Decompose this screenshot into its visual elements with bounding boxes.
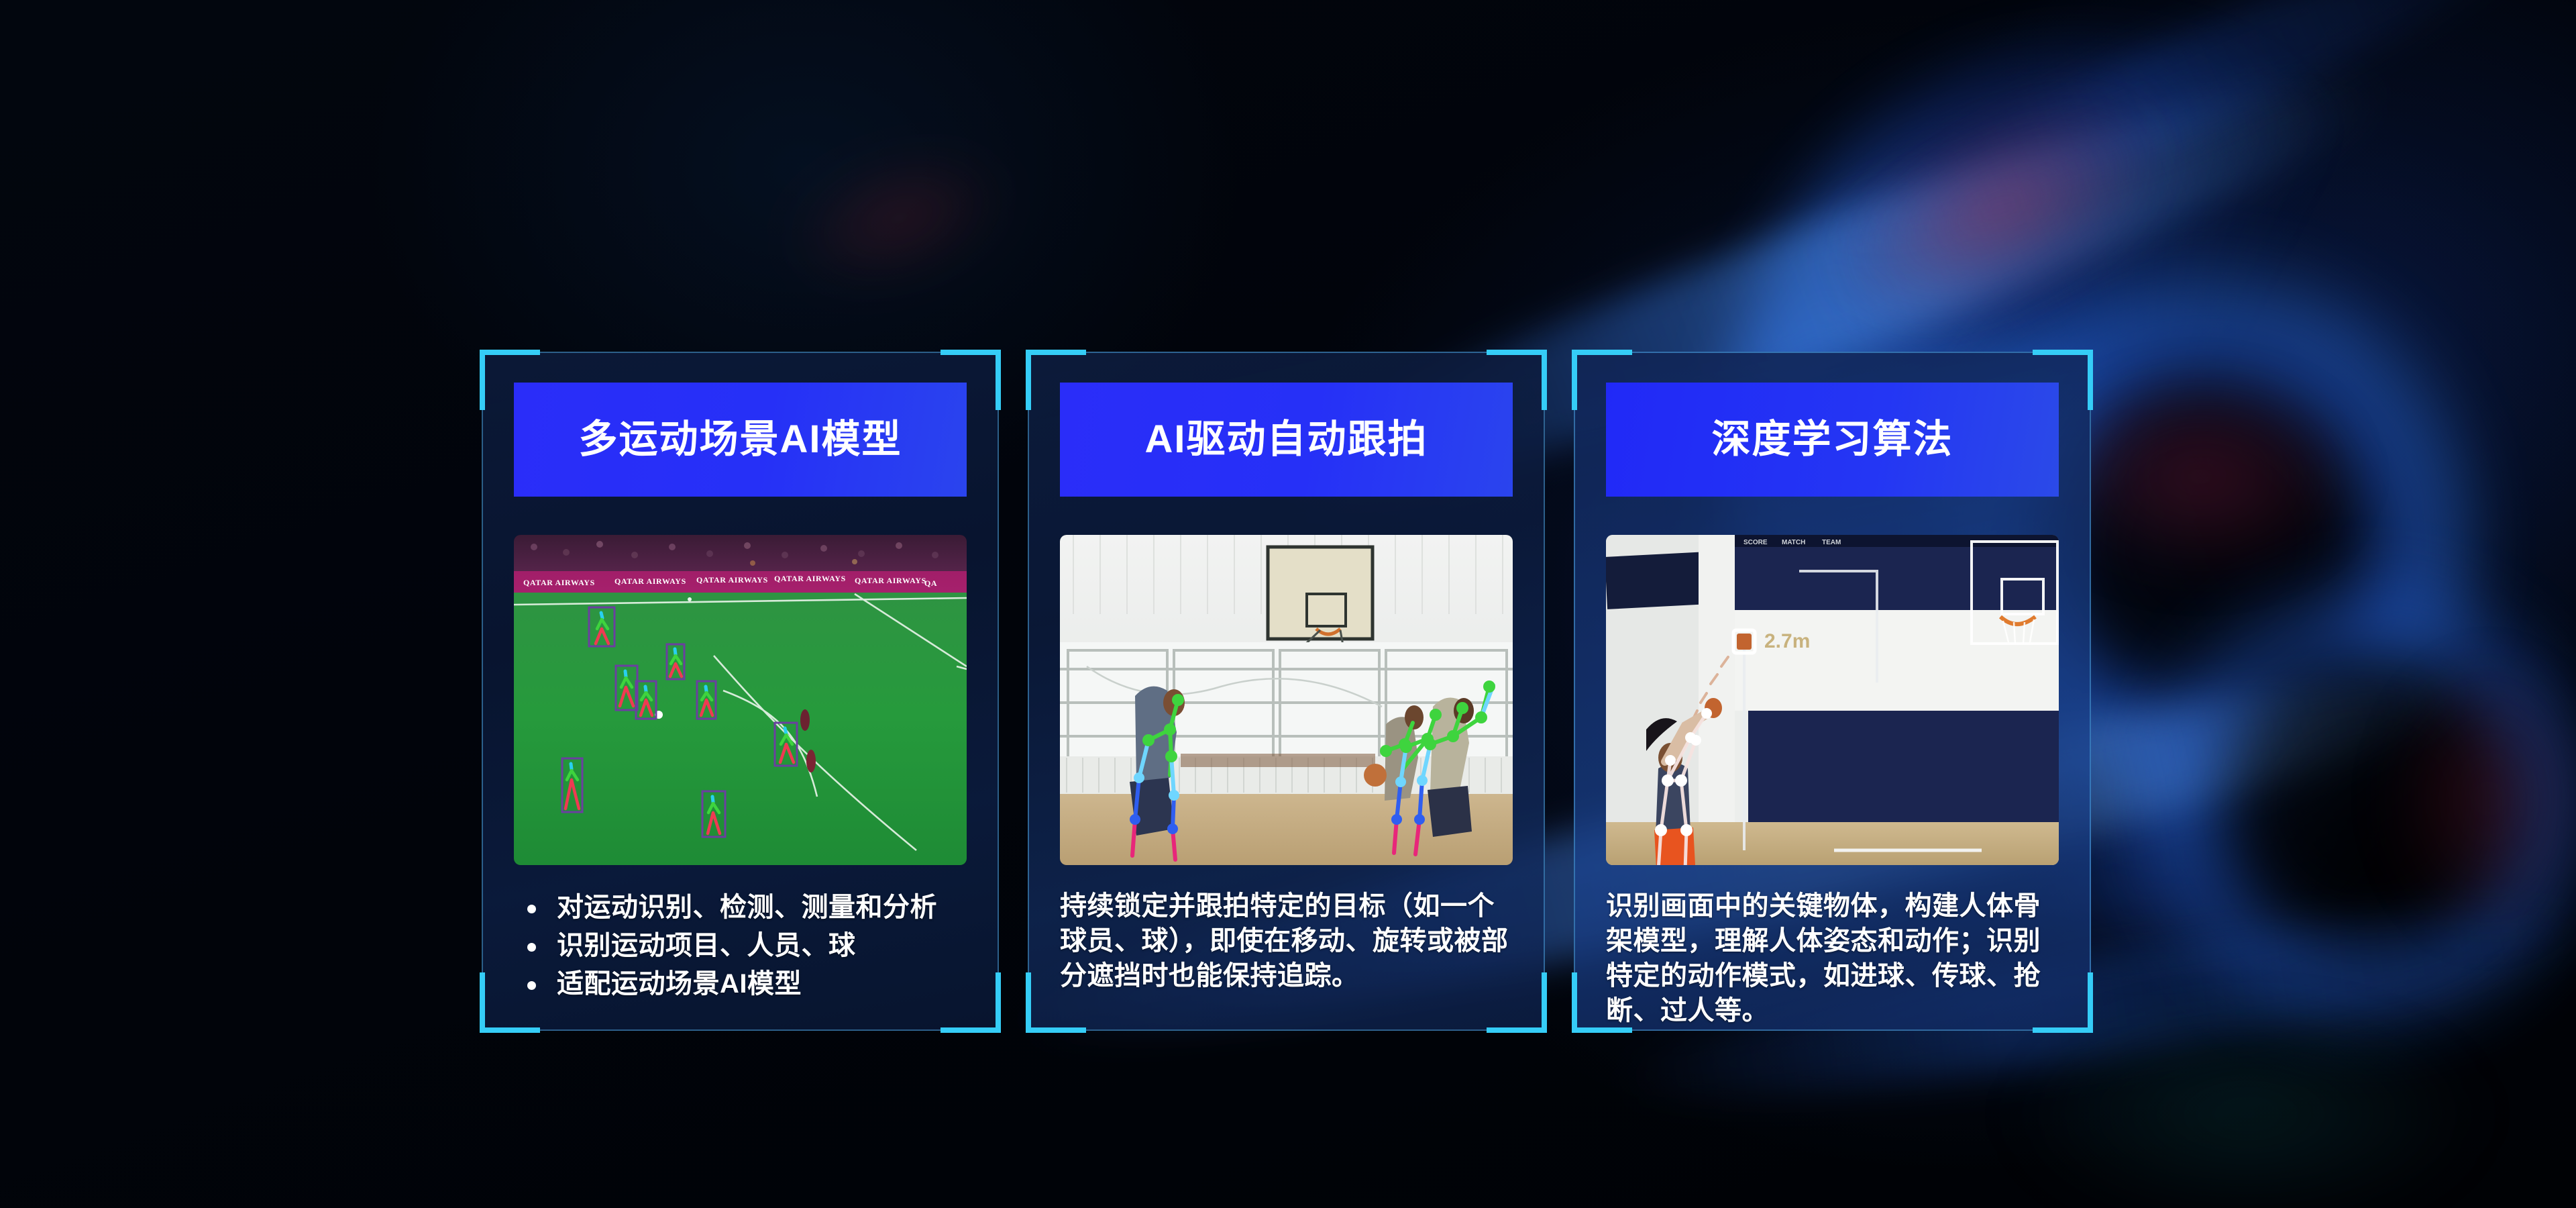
feature-card-deep-learning-algorithm[interactable]: 深度学习算法 [1574, 352, 2091, 1031]
card-title: 深度学习算法 [1711, 420, 1953, 459]
background-red-accent [782, 137, 1017, 299]
svg-text:QATAR AIRWAYS: QATAR AIRWAYS [696, 575, 768, 585]
card-header-banner: 深度学习算法 [1606, 383, 2059, 497]
card-title: AI驱动自动跟拍 [1144, 420, 1428, 459]
background-teal-glow [2012, 1007, 2482, 1208]
card-media-soccer-pitch-detection: QATAR AIRWAYS QATAR AIRWAYS QATAR AIRWAY… [514, 535, 967, 865]
list-item: 适配运动场景AI模型 [515, 965, 969, 1003]
svg-text:MATCH: MATCH [1782, 539, 1805, 546]
card-media-gym-basketball-pose [1060, 535, 1513, 865]
distance-measurement-label: 2.7m [1764, 630, 1810, 652]
background-red-accent [2046, 376, 2355, 577]
card-header-banner: 多运动场景AI模型 [514, 383, 967, 497]
slide-canvas: 多运动场景AI模型 [0, 0, 2576, 1208]
list-item: 对运动识别、检测、测量和分析 [515, 889, 969, 927]
card-body: 持续锁定并跟拍特定的目标（如一个球员、球），即使在移动、旋转或被部分遮挡时也能保… [1060, 889, 1515, 993]
svg-text:QATAR AIRWAYS: QATAR AIRWAYS [523, 578, 595, 587]
list-item: 识别运动项目、人员、球 [515, 927, 969, 965]
background-red-accent [2388, 658, 2576, 940]
svg-text:TEAM: TEAM [1822, 539, 1841, 546]
svg-text:QATAR AIRWAYS: QATAR AIRWAYS [614, 576, 686, 586]
card-body: 识别画面中的关键物体，构建人体骨架模型，理解人体姿态和动作；识别特定的动作模式，… [1606, 889, 2061, 1028]
feature-card-multi-sport-ai-model[interactable]: 多运动场景AI模型 [482, 352, 999, 1031]
card-body: 对运动识别、检测、测量和分析 识别运动项目、人员、球 适配运动场景AI模型 [515, 889, 969, 1003]
feature-bullet-list: 对运动识别、检测、测量和分析 识别运动项目、人员、球 适配运动场景AI模型 [515, 889, 969, 1003]
card-description: 识别画面中的关键物体，构建人体骨架模型，理解人体姿态和动作；识别特定的动作模式，… [1606, 889, 2061, 1028]
svg-text:QATAR AIRWAYS: QATAR AIRWAYS [774, 574, 846, 583]
svg-text:SCORE: SCORE [1743, 539, 1768, 546]
svg-text:QA: QA [924, 578, 937, 588]
card-description: 持续锁定并跟拍特定的目标（如一个球员、球），即使在移动、旋转或被部分遮挡时也能保… [1060, 889, 1515, 993]
card-title: 多运动场景AI模型 [578, 420, 902, 459]
card-media-basketball-shot-measurement: SCOREMATCHTEAM [1606, 535, 2059, 865]
feature-card-row: 多运动场景AI模型 [482, 352, 2092, 1031]
card-header-banner: AI驱动自动跟拍 [1060, 383, 1513, 497]
feature-card-ai-auto-tracking[interactable]: AI驱动自动跟拍 [1028, 352, 1545, 1031]
svg-text:QATAR AIRWAYS: QATAR AIRWAYS [855, 576, 926, 585]
